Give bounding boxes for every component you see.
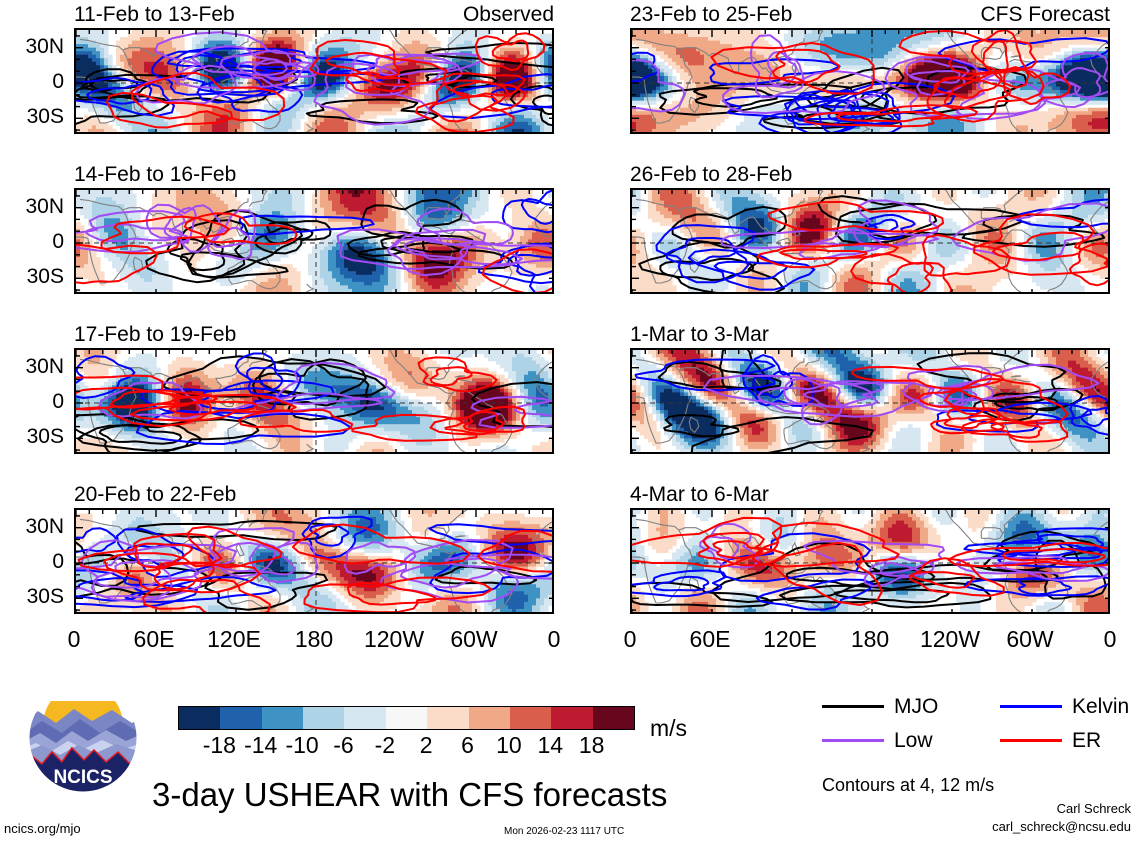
- legend-item-er[interactable]: ER: [1000, 730, 1101, 751]
- y-axis-tick-label: 30S: [0, 426, 64, 447]
- panel-tag: Observed: [463, 4, 554, 25]
- colorbar-tick-label: 18: [562, 734, 622, 757]
- y-axis-tick-label: 30S: [0, 266, 64, 287]
- x-axis-tick-label: 60W: [429, 628, 519, 651]
- map-plot-area: [74, 188, 554, 294]
- x-axis-tick-label: 120W: [905, 628, 995, 651]
- y-axis-tick-label: 30N: [0, 356, 64, 377]
- colorbar-segment: [510, 707, 551, 729]
- figure-canvas: 11-Feb to 13-FebObserved30N030S14-Feb to…: [0, 0, 1135, 844]
- x-axis-tick-label: 60E: [109, 628, 199, 651]
- legend-line-swatch: [822, 705, 884, 708]
- ncics-logo-graphic: NCICS: [22, 683, 144, 793]
- y-axis-tick-label: 0: [0, 551, 64, 572]
- legend-line-swatch: [1000, 739, 1062, 742]
- map-plot-area: [630, 28, 1110, 134]
- x-axis-tick-label: 180: [269, 628, 359, 651]
- map-plot-area: [74, 348, 554, 454]
- legend-item-low[interactable]: Low: [822, 730, 933, 751]
- x-axis-tick-label: 120W: [349, 628, 439, 651]
- author-email[interactable]: carl_schreck@ncsu.edu: [992, 819, 1131, 834]
- colorbar-segment: [469, 707, 510, 729]
- colorbar-segment: [303, 707, 344, 729]
- x-axis-tick-label: 120E: [745, 628, 835, 651]
- colorbar-segment: [262, 707, 303, 729]
- x-axis-tick-label: 0: [1065, 628, 1135, 651]
- ncics-logo: NCICS: [22, 683, 144, 793]
- panel-title: 20-Feb to 22-Feb: [74, 484, 236, 505]
- site-link[interactable]: ncics.org/mjo: [4, 822, 81, 836]
- y-axis-tick-label: 30S: [0, 106, 64, 127]
- map-panel-4: 20-Feb to 22-Feb: [74, 484, 554, 614]
- colorbar-segment: [344, 707, 385, 729]
- x-axis-tick-label: 0: [585, 628, 675, 651]
- colorbar-segment: [551, 707, 592, 729]
- legend-item-mjo[interactable]: MJO: [822, 696, 938, 717]
- logo-wordmark: NCICS: [53, 767, 112, 788]
- legend-line-swatch: [1000, 705, 1062, 708]
- colorbar-swatches: [178, 706, 635, 730]
- map-panel-8: 4-Mar to 6-Mar: [630, 484, 1110, 614]
- panel-title: 17-Feb to 19-Feb: [74, 324, 236, 345]
- x-axis-tick-label: 0: [29, 628, 119, 651]
- map-panel-5: 23-Feb to 25-FebCFS Forecast: [630, 4, 1110, 134]
- panel-title: 1-Mar to 3-Mar: [630, 324, 769, 345]
- panel-tag: CFS Forecast: [980, 4, 1110, 25]
- panel-title: 14-Feb to 16-Feb: [74, 164, 236, 185]
- map-plot-area: [74, 508, 554, 614]
- x-axis-tick-label: 60E: [665, 628, 755, 651]
- author-name: Carl Schreck: [1057, 801, 1131, 816]
- y-axis-tick-label: 30N: [0, 36, 64, 57]
- panel-title: 4-Mar to 6-Mar: [630, 484, 769, 505]
- legend-label: ER: [1072, 730, 1101, 751]
- colorbar-segment: [386, 707, 427, 729]
- main-title: 3-day USHEAR with CFS forecasts: [152, 778, 667, 811]
- map-panel-3: 17-Feb to 19-Feb: [74, 324, 554, 454]
- legend-item-kelvin-x2[interactable]: Kelvin x2: [1000, 696, 1135, 717]
- y-axis-tick-label: 30S: [0, 586, 64, 607]
- colorbar-segment: [220, 707, 261, 729]
- map-plot-area: [630, 508, 1110, 614]
- y-axis-tick-label: 0: [0, 391, 64, 412]
- map-panel-7: 1-Mar to 3-Mar: [630, 324, 1110, 454]
- colorbar-segment: [427, 707, 468, 729]
- y-axis-tick-label: 30N: [0, 196, 64, 217]
- colorbar: -18-14-10-6-226101418: [178, 706, 633, 766]
- y-axis-tick-label: 30N: [0, 516, 64, 537]
- colorbar-units-label: m/s: [650, 717, 687, 740]
- x-axis-tick-label: 60W: [985, 628, 1075, 651]
- legend-line-swatch: [822, 739, 884, 742]
- panel-title: 23-Feb to 25-Feb: [630, 4, 792, 25]
- contour-note: Contours at 4, 12 m/s: [822, 776, 994, 794]
- map-panel-6: 26-Feb to 28-Feb: [630, 164, 1110, 294]
- x-axis-tick-label: 120E: [189, 628, 279, 651]
- legend-label: Kelvin x2: [1072, 696, 1135, 717]
- panel-title: 11-Feb to 13-Feb: [74, 4, 235, 25]
- legend-label: Low: [894, 730, 933, 751]
- map-panel-1: 11-Feb to 13-FebObserved: [74, 4, 554, 134]
- colorbar-segment: [179, 707, 220, 729]
- legend-label: MJO: [894, 696, 938, 717]
- y-axis-tick-label: 0: [0, 231, 64, 252]
- map-plot-area: [74, 28, 554, 134]
- map-plot-area: [630, 188, 1110, 294]
- colorbar-segment: [593, 707, 634, 729]
- x-axis-tick-label: 180: [825, 628, 915, 651]
- panel-title: 26-Feb to 28-Feb: [630, 164, 792, 185]
- map-panel-2: 14-Feb to 16-Feb: [74, 164, 554, 294]
- map-plot-area: [630, 348, 1110, 454]
- y-axis-tick-label: 0: [0, 71, 64, 92]
- timestamp: Mon 2026-02-23 1117 UTC: [504, 826, 624, 837]
